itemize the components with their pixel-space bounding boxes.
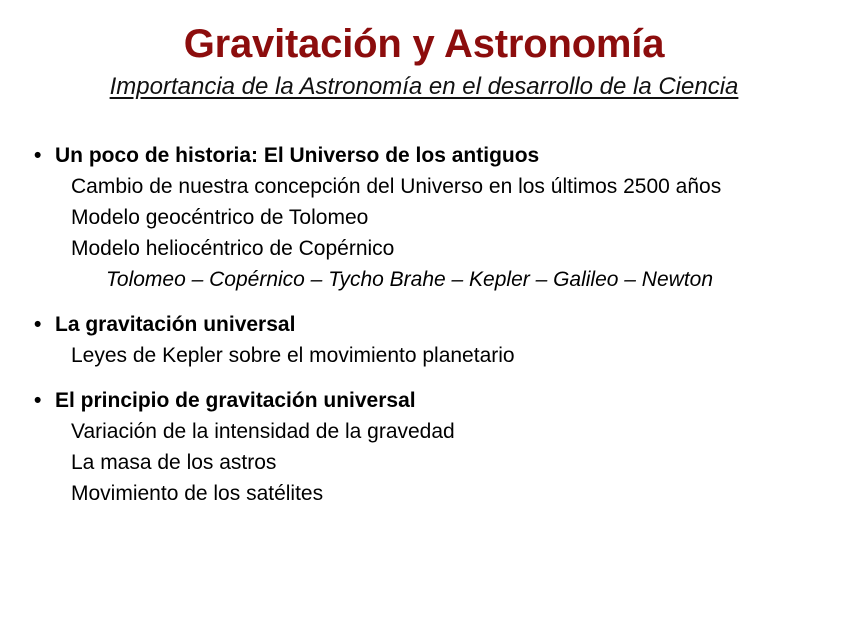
bullet-heading-label: Un poco de historia: El Universo de los … xyxy=(55,144,539,167)
slide-body: • Un poco de historia: El Universo de lo… xyxy=(0,140,848,509)
sub-line-emphasis: Tolomeo – Copérnico – Tycho Brahe – Kepl… xyxy=(0,264,848,295)
sub-line: Cambio de nuestra concepción del Univers… xyxy=(0,171,848,202)
sub-line: Movimiento de los satélites xyxy=(0,478,848,509)
slide-subtitle-text: Importancia de la Astronomía en el desar… xyxy=(110,73,739,100)
bullet-heading: • Un poco de historia: El Universo de lo… xyxy=(0,140,848,171)
bullet-heading-label: La gravitación universal xyxy=(55,313,295,336)
sub-line: Modelo geocéntrico de Tolomeo xyxy=(0,202,848,233)
sub-line: La masa de los astros xyxy=(0,447,848,478)
bullet-section: • La gravitación universal Leyes de Kepl… xyxy=(0,309,848,371)
page-title: Gravitación y Astronomía xyxy=(0,22,848,67)
bullet-heading: • La gravitación universal xyxy=(0,309,848,340)
bullet-dot-icon: • xyxy=(34,140,41,171)
bullet-heading-label: El principio de gravitación universal xyxy=(55,389,416,412)
title-block: Gravitación y Astronomía Importancia de … xyxy=(0,22,848,100)
bullet-dot-icon: • xyxy=(34,385,41,416)
sub-line: Modelo heliocéntrico de Copérnico xyxy=(0,233,848,264)
sub-line: Leyes de Kepler sobre el movimiento plan… xyxy=(0,340,848,371)
bullet-dot-icon: • xyxy=(34,309,41,340)
presentation-slide: Gravitación y Astronomía Importancia de … xyxy=(0,0,848,636)
bullet-section: • El principio de gravitación universal … xyxy=(0,385,848,509)
bullet-heading: • El principio de gravitación universal xyxy=(0,385,848,416)
bullet-section: • Un poco de historia: El Universo de lo… xyxy=(0,140,848,295)
sub-line: Variación de la intensidad de la graveda… xyxy=(0,416,848,447)
slide-subtitle: Importancia de la Astronomía en el desar… xyxy=(0,73,848,101)
